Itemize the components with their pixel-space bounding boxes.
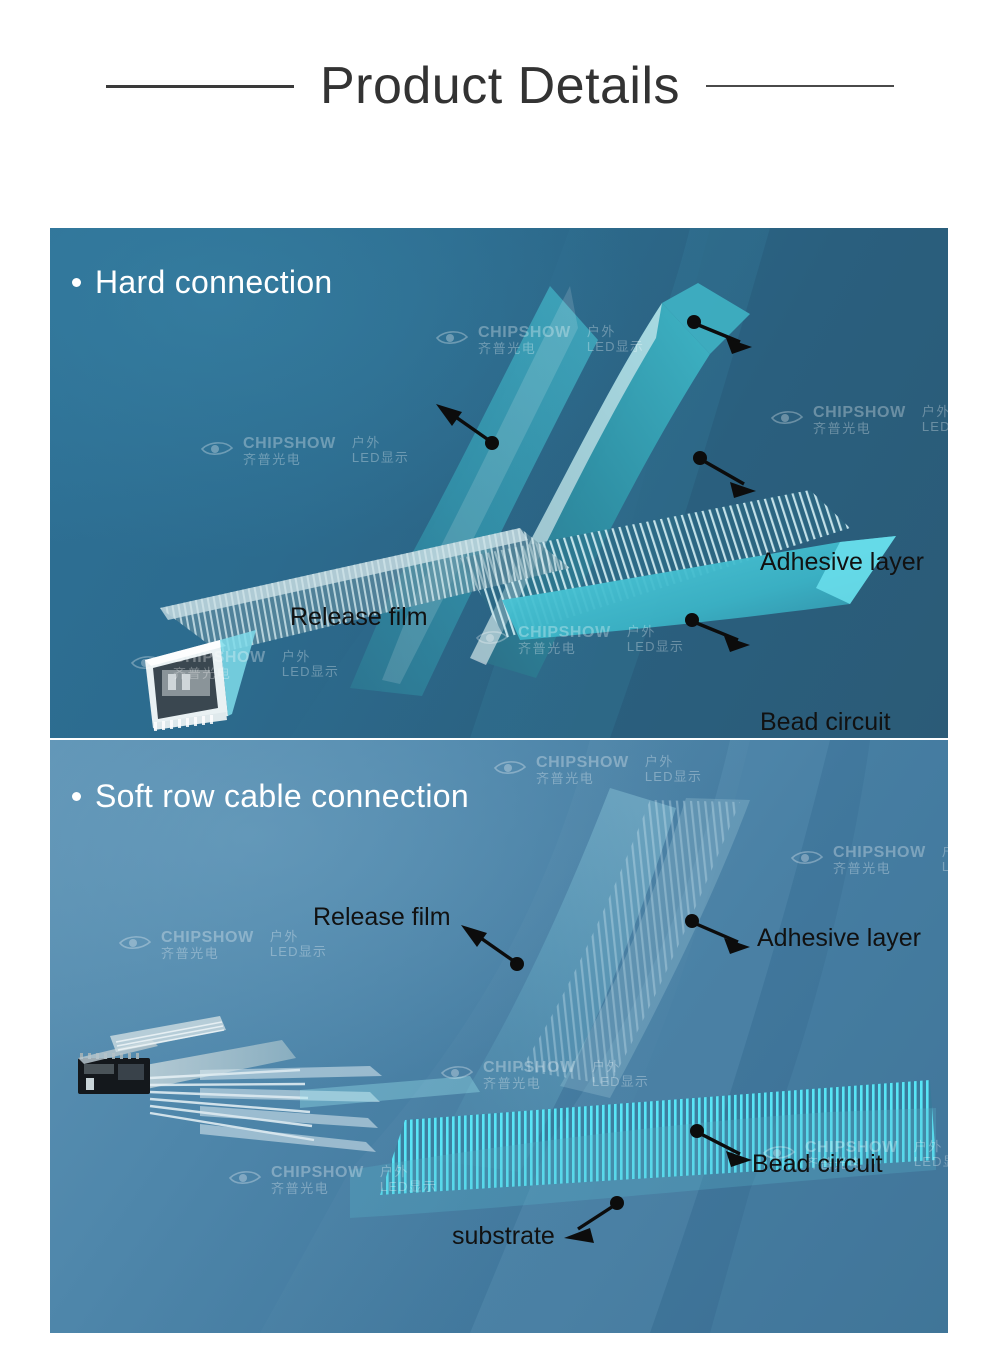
page-header: Product Details (0, 0, 1000, 228)
hard-connector (145, 630, 256, 731)
panel-heading-soft-label: Soft row cable connection (95, 778, 469, 814)
title-rule-right (706, 85, 894, 87)
panel-heading-hard: Hard connection (72, 264, 333, 301)
watermark-tagline-bottom: LED显示 (942, 860, 999, 875)
callout-adhesive-layer-soft: Adhesive layer (757, 924, 921, 953)
watermark-tagline-top: 户外 (942, 845, 999, 860)
panel-soft-row-cable-connection: Soft row cable connection Release film A… (50, 740, 948, 1333)
panel-heading-soft: Soft row cable connection (72, 778, 469, 815)
callout-bead-circuit-soft: Bead circuit (752, 1150, 883, 1179)
page-title: Product Details (320, 56, 680, 116)
callout-release-film-hard: Release film (290, 603, 428, 632)
callout-bead-circuit-hard: Bead circuit (760, 708, 891, 737)
panel-hard-connection: Hard connection Adhesive layer Release f… (50, 228, 948, 738)
callout-substrate-soft: substrate (452, 1222, 555, 1251)
hard-connection-illustration (50, 228, 948, 738)
bullet-icon (72, 792, 81, 801)
panel-heading-hard-label: Hard connection (95, 264, 333, 300)
title-rule-left (106, 85, 294, 88)
bullet-icon (72, 278, 81, 287)
callout-release-film-soft: Release film (313, 903, 451, 932)
callout-adhesive-layer-hard: Adhesive layer (760, 548, 924, 577)
